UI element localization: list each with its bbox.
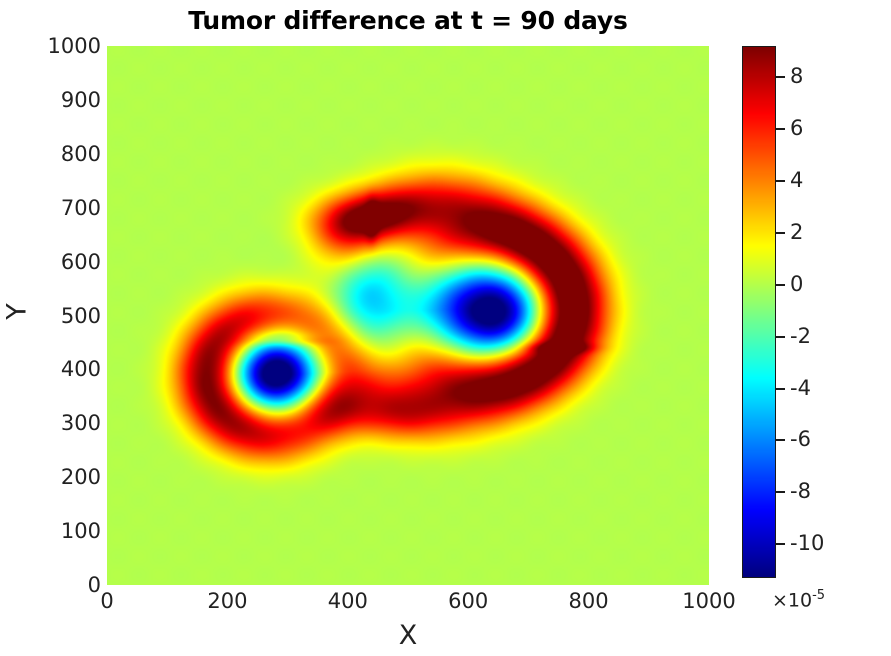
figure-canvas: Tumor difference at t = 90 days 10009008… [0,0,891,656]
x-tick-800: 800 [544,591,634,612]
colorbar-tick-2: 2 [776,222,803,243]
x-tick-200: 200 [182,591,272,612]
colorbar-gradient [743,47,775,577]
x-tick-1000: 1000 [664,591,754,612]
chart-title: Tumor difference at t = 90 days [107,6,709,35]
y-axis-label: Y [2,267,33,357]
y-tick-600: 600 [39,252,101,273]
colorbar-tick--8: -8 [776,481,811,502]
y-tick-700: 700 [39,198,101,219]
colorbar [742,46,776,578]
y-tick-800: 800 [39,144,101,165]
x-tick-600: 600 [423,591,513,612]
colorbar-tick-6: 6 [776,118,803,139]
x-axis-label: X [107,620,709,651]
x-tick-0: 0 [62,591,152,612]
colorbar-tick-labels: 86420-2-4-6-8-10 [776,46,876,578]
y-tick-1000: 1000 [39,36,101,57]
colorbar-tick--2: -2 [776,326,811,347]
colorbar-tick--4: -4 [776,378,811,399]
y-tick-200: 200 [39,467,101,488]
y-tick-400: 400 [39,359,101,380]
x-tick-400: 400 [303,591,393,612]
colorbar-tick-0: 0 [776,274,803,295]
colorbar-exponent-label: ×10-5 [772,588,825,611]
y-tick-100: 100 [39,521,101,542]
x-axis-tick-labels: 02004006008001000 [107,591,709,619]
y-tick-500: 500 [39,306,101,327]
y-tick-300: 300 [39,413,101,434]
colorbar-tick--10: -10 [776,533,824,554]
heatmap-image [107,46,709,585]
y-tick-900: 900 [39,90,101,111]
colorbar-tick-8: 8 [776,66,803,87]
y-axis-tick-labels: 10009008007006005004003002001000 [33,46,101,585]
colorbar-tick--6: -6 [776,429,811,450]
colorbar-tick-4: 4 [776,170,803,191]
heatmap-plot-area [107,46,709,585]
